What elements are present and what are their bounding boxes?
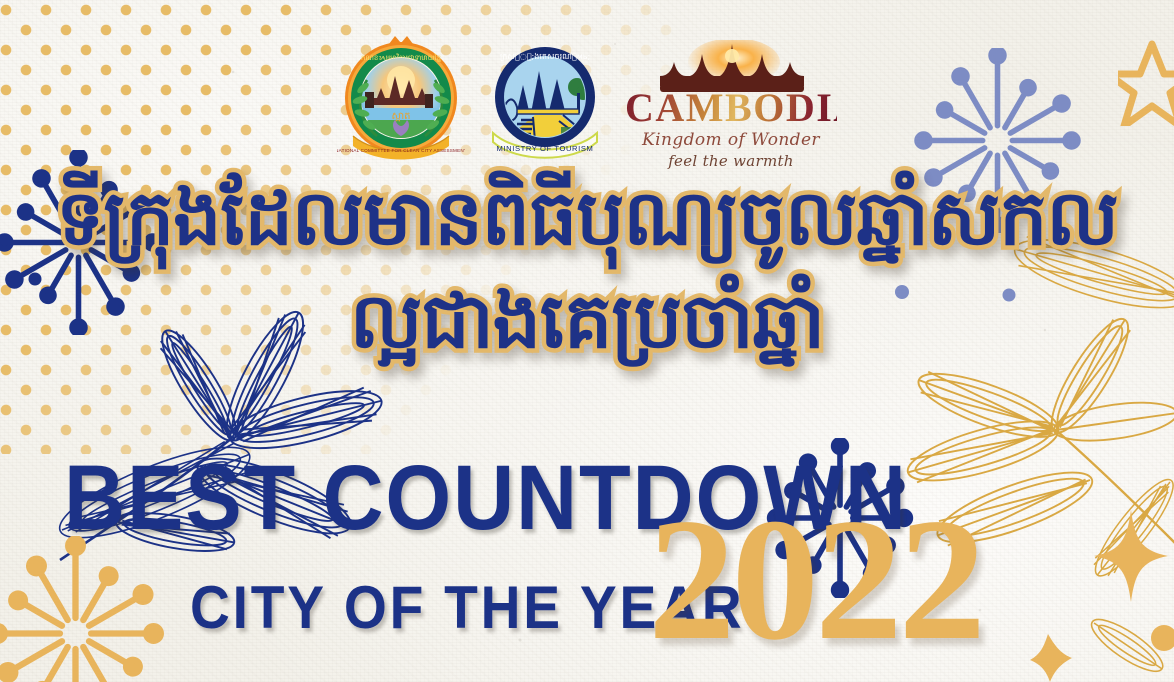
svg-text:NATIONAL COMMITTEE FOR CLEAN C: NATIONAL COMMITTEE FOR CLEAN CITY ASSESS… [337,148,465,153]
logo-ministry-of-tourism: ក្រសួ;ងតេសចរណмь; MINISTRY OF TOURISM ក… [487,41,603,168]
firework-burst-bottom-left [0,536,173,682]
logo1-ribbon-caption: NATIONAL COMMITTEE FOR CLEAN CITY ASSESS… [465,36,466,37]
khmer-headline-line-1: ទីក្រុងដែលមានពិធីបុណ្យចូលឆ្នាំសកល [0,178,1174,259]
svg-text:ក្រសួ;ងតេសចរណмь;: ក្រសួ;ងតេសចរណмь; [500,52,590,61]
logo-row: កណខᝰមមាវិការជាទាឞាយន្ម្លៃ [0,36,1174,173]
cambodia-tagline-2: feel the warmth [625,152,837,170]
svg-text:MINISTRY OF TOURISM: MINISTRY OF TOURISM [497,144,594,153]
logo1-khmer-caption: គណៈកម្មាធិការជាតិវាយតម្លៃទីក្រុងស្អាត [465,36,466,37]
title-year-2022: 2022 [648,492,982,667]
leaf-sprig-bottom-right [1090,615,1174,682]
svg-text:ស្អាត: ស្អាត [391,111,410,122]
logo-cambodia-wordmark: CAMBODIA Kingdom of Wonder feel the warm… [625,42,837,168]
olive-leaf-fan-bottom-right [1010,470,1174,590]
logo2-ribbon-caption: MINISTRY OF TOURISM [603,41,604,42]
sparkle-blob-bottom [1028,632,1074,682]
logo2-khmer-caption: ក្រសួងទេសចរណ៍ [603,41,604,42]
cambodia-tagline-1: Kingdom of Wonder [625,130,837,150]
khmer-headline-line-2: ល្អជាងគេប្រចាំឆ្នាំ [0,281,1174,362]
khmer-headline: ទីក្រុងដែលមានពិធីបុណ្យចូលឆ្នាំសកល ល្អជាង… [0,178,1174,361]
sparkle-bottom-right [1092,508,1170,604]
logo-national-committee-clean-city: កណខᝰមមាវិការជាទាឞាយន្ម្លៃ [337,36,465,173]
cambodia-wordmark-text: CAMBODIA [625,88,837,128]
poster-canvas: កណខᝰមមាវិការជាទាឞាយន្ម្លៃ [0,0,1174,682]
sparkle-dot-bottom-right [1150,618,1174,662]
